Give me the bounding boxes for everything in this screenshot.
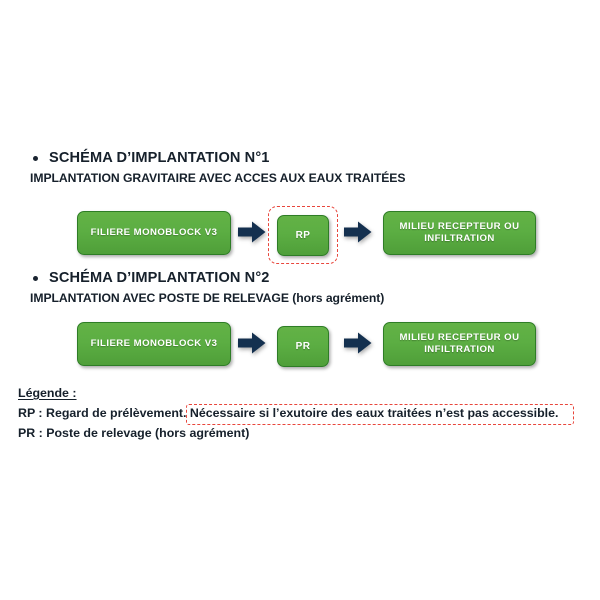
- node-filiere-monoblock-v3-1[interactable]: FILIERE MONOBLOCK V3: [77, 211, 231, 255]
- legend-title: Légende :: [18, 386, 558, 400]
- legend: Légende : RP : Regard de prélèvement. Né…: [18, 386, 558, 440]
- node-label: PR: [292, 341, 315, 353]
- arrow-right-icon-2a: [238, 331, 266, 355]
- section-2-bullet-row: SCHÉMA D’IMPLANTATION N°2: [30, 268, 384, 288]
- section-2-title: SCHÉMA D’IMPLANTATION N°2: [49, 270, 269, 286]
- flow-diagram-2: FILIERE MONOBLOCK V3 PR MILIEU RECEPTEUR…: [0, 316, 600, 376]
- flow-diagram-1: FILIERE MONOBLOCK V3 RP MILIEU RECEPTEUR…: [0, 205, 600, 265]
- section-1-subtitle: IMPLANTATION GRAVITAIRE AVEC ACCES AUX E…: [30, 171, 405, 185]
- bullet-icon: [33, 276, 38, 281]
- node-milieu-recepteur-2[interactable]: MILIEU RECEPTEUR OU INFILTRATION: [383, 322, 536, 366]
- arrow-right-icon-2b: [344, 331, 372, 355]
- node-filiere-monoblock-v3-2[interactable]: FILIERE MONOBLOCK V3: [77, 322, 231, 366]
- node-label: FILIERE MONOBLOCK V3: [87, 227, 222, 239]
- node-pr[interactable]: PR: [277, 326, 329, 367]
- node-label: FILIERE MONOBLOCK V3: [87, 338, 222, 350]
- node-milieu-recepteur-1[interactable]: MILIEU RECEPTEUR OU INFILTRATION: [383, 211, 536, 255]
- section-2-subtitle: IMPLANTATION AVEC POSTE DE RELEVAGE (hor…: [30, 291, 384, 305]
- section-1-title: SCHÉMA D’IMPLANTATION N°1: [49, 150, 269, 166]
- node-label: MILIEU RECEPTEUR OU INFILTRATION: [396, 221, 524, 245]
- node-label-line-2: INFILTRATION: [424, 233, 495, 244]
- legend-entry-pr: PR : Poste de relevage (hors agrément): [18, 426, 558, 440]
- bullet-icon: [33, 156, 38, 161]
- document-page: SCHÉMA D’IMPLANTATION N°1 IMPLANTATION G…: [0, 0, 600, 600]
- section-1-heading: SCHÉMA D’IMPLANTATION N°1 IMPLANTATION G…: [30, 148, 405, 185]
- section-2-heading: SCHÉMA D’IMPLANTATION N°2 IMPLANTATION A…: [30, 268, 384, 305]
- section-1-bullet-row: SCHÉMA D’IMPLANTATION N°1: [30, 148, 405, 168]
- node-label: RP: [292, 230, 315, 242]
- arrow-right-icon-1b: [344, 220, 372, 244]
- legend-entry-rp: RP : Regard de prélèvement. Nécessaire s…: [18, 406, 558, 420]
- node-label: MILIEU RECEPTEUR OU INFILTRATION: [396, 332, 524, 356]
- node-label-line-1: MILIEU RECEPTEUR OU: [400, 332, 520, 343]
- node-rp[interactable]: RP: [277, 215, 329, 256]
- node-label-line-1: MILIEU RECEPTEUR OU: [400, 221, 520, 232]
- node-label-line-2: INFILTRATION: [424, 344, 495, 355]
- arrow-right-icon-1a: [238, 220, 266, 244]
